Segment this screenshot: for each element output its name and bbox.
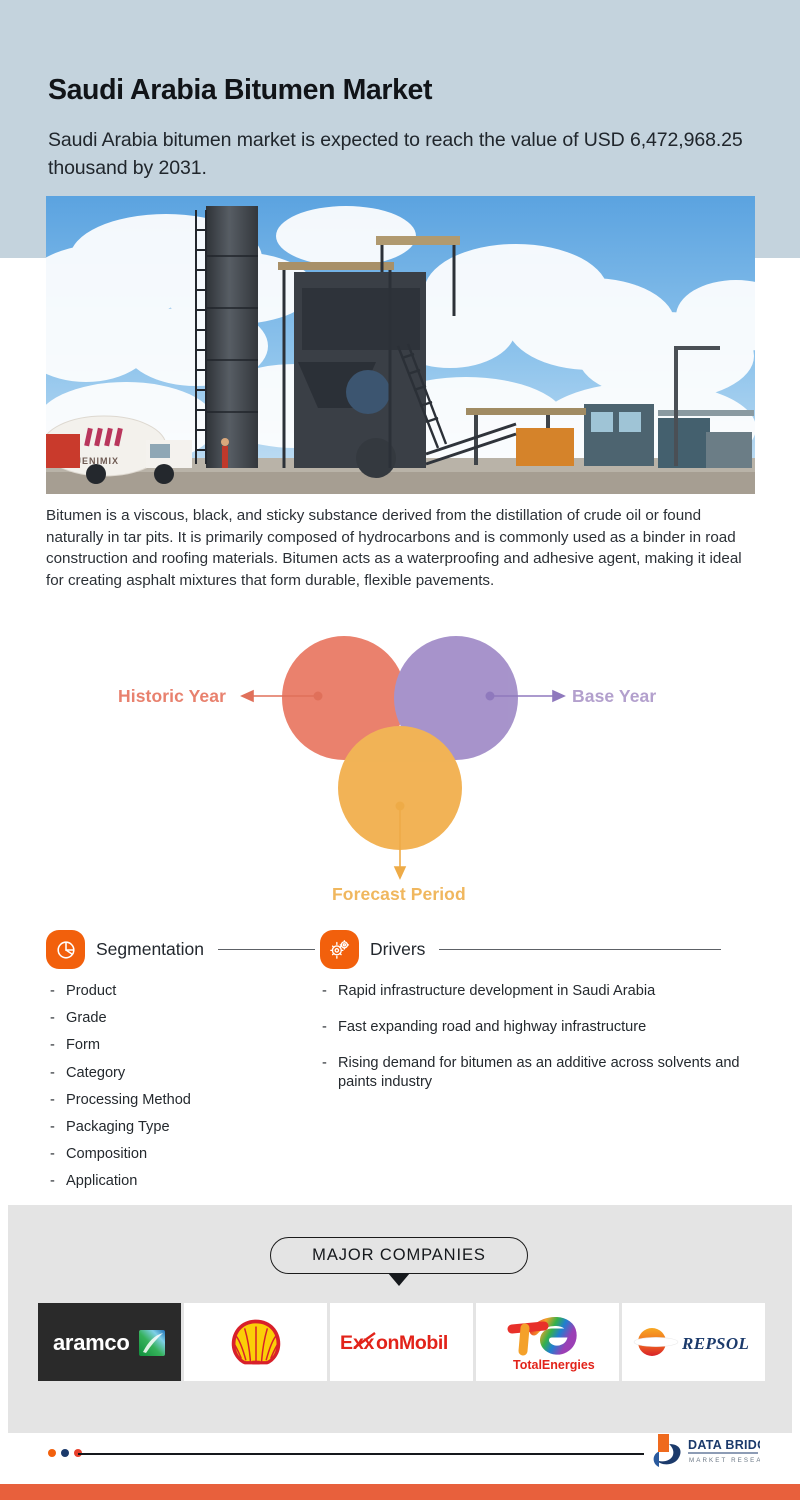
infographic-page: Saudi Arabia Bitumen Market Saudi Arabia… bbox=[0, 0, 800, 1500]
list-item: -Rapid infrastructure development in Sau… bbox=[322, 982, 752, 1001]
bullet-dash: - bbox=[322, 1054, 338, 1092]
footer-divider bbox=[78, 1453, 644, 1455]
logo-exxonmobil: E xx onMobil bbox=[330, 1303, 473, 1381]
major-companies-label: MAJOR COMPANIES bbox=[312, 1246, 486, 1265]
bullet-dash: - bbox=[50, 1172, 66, 1191]
company-logo-row: aramco bbox=[38, 1303, 765, 1381]
list-item: -Processing Method bbox=[50, 1091, 300, 1110]
logo-totalenergies: TotalEnergies bbox=[476, 1303, 619, 1381]
venn-label-base: Base Year bbox=[572, 686, 656, 707]
list-item: -Packaging Type bbox=[50, 1118, 300, 1137]
bullet-dash: - bbox=[50, 1118, 66, 1137]
logo-shell bbox=[184, 1303, 327, 1381]
bullet-dash: - bbox=[50, 1091, 66, 1110]
shell-logo-icon bbox=[228, 1314, 284, 1370]
bullet-dash: - bbox=[50, 1064, 66, 1083]
bullet-dash: - bbox=[322, 982, 338, 1001]
list-item: -Application bbox=[50, 1172, 300, 1191]
svg-text:REP: REP bbox=[681, 1334, 716, 1353]
segmentation-title: Segmentation bbox=[96, 939, 204, 960]
bullet-dash: - bbox=[50, 982, 66, 1001]
list-item: -Rising demand for bitumen as an additiv… bbox=[322, 1054, 752, 1092]
segmentation-item-label: Packaging Type bbox=[66, 1118, 170, 1137]
pill-pointer-icon bbox=[388, 1273, 410, 1286]
drivers-title: Drivers bbox=[370, 939, 425, 960]
gears-icon bbox=[320, 930, 359, 969]
list-item: -Product bbox=[50, 982, 300, 1001]
databridge-tagline: MARKET RESEARCH bbox=[689, 1457, 760, 1464]
svg-text:SOL: SOL bbox=[716, 1334, 749, 1353]
segmentation-item-label: Processing Method bbox=[66, 1091, 191, 1110]
bullet-dash: - bbox=[322, 1018, 338, 1037]
logo-repsol: REP SOL bbox=[622, 1303, 765, 1381]
drivers-header: Drivers bbox=[320, 930, 721, 969]
list-item: -Form bbox=[50, 1036, 300, 1055]
venn-svg bbox=[0, 618, 800, 918]
major-companies-heading: MAJOR COMPANIES bbox=[270, 1237, 528, 1274]
list-item: -Category bbox=[50, 1064, 300, 1083]
footer-dot-2 bbox=[61, 1449, 69, 1457]
segmentation-rule bbox=[218, 949, 315, 950]
drivers-list: -Rapid infrastructure development in Sau… bbox=[322, 982, 752, 1109]
bullet-dash: - bbox=[50, 1009, 66, 1028]
drivers-rule bbox=[439, 949, 721, 950]
list-item: -Fast expanding road and highway infrast… bbox=[322, 1018, 752, 1037]
page-subtitle: Saudi Arabia bitumen market is expected … bbox=[48, 126, 748, 182]
venn-diagram: 2022 2023 2024-2031 bbox=[0, 618, 800, 918]
databridge-logo: DATA BRIDGE MARKET RESEARCH bbox=[648, 1430, 760, 1476]
databridge-logo-icon: DATA BRIDGE MARKET RESEARCH bbox=[648, 1430, 760, 1476]
footer-dot-1 bbox=[48, 1449, 56, 1457]
segmentation-item-label: Composition bbox=[66, 1145, 147, 1164]
list-item: -Composition bbox=[50, 1145, 300, 1164]
drivers-item-label: Rapid infrastructure development in Saud… bbox=[338, 982, 655, 1001]
bullet-dash: - bbox=[50, 1145, 66, 1164]
drivers-item-label: Fast expanding road and highway infrastr… bbox=[338, 1018, 646, 1037]
footer-dots bbox=[48, 1449, 82, 1457]
pie-chart-icon bbox=[46, 930, 85, 969]
drivers-item-label: Rising demand for bitumen as an additive… bbox=[338, 1054, 752, 1092]
hero-photo: JENIMIX bbox=[46, 196, 755, 494]
bullet-dash: - bbox=[50, 1036, 66, 1055]
page-title: Saudi Arabia Bitumen Market bbox=[48, 74, 432, 107]
segmentation-item-label: Application bbox=[66, 1172, 137, 1191]
databridge-name: DATA BRIDGE bbox=[688, 1438, 760, 1452]
segmentation-item-label: Grade bbox=[66, 1009, 107, 1028]
svg-text:onMobil: onMobil bbox=[376, 1332, 448, 1354]
segmentation-item-label: Product bbox=[66, 982, 116, 1001]
venn-label-historic: Historic Year bbox=[118, 686, 226, 707]
bottom-accent-bar bbox=[0, 1484, 800, 1500]
aramco-logo-icon: aramco bbox=[47, 1322, 173, 1362]
venn-label-forecast: Forecast Period bbox=[332, 884, 466, 905]
list-item: -Grade bbox=[50, 1009, 300, 1028]
svg-text:E: E bbox=[340, 1332, 353, 1354]
exxonmobil-logo-icon: E xx onMobil bbox=[336, 1324, 468, 1360]
segmentation-item-label: Form bbox=[66, 1036, 100, 1055]
svg-text:aramco: aramco bbox=[53, 1330, 129, 1355]
description-text: Bitumen is a viscous, black, and sticky … bbox=[46, 505, 752, 591]
repsol-logo-icon: REP SOL bbox=[630, 1322, 758, 1362]
plant-photo-illustration: JENIMIX bbox=[46, 196, 755, 494]
segmentation-item-label: Category bbox=[66, 1064, 125, 1083]
segmentation-list: -Product -Grade -Form -Category -Process… bbox=[50, 982, 300, 1200]
segmentation-header: Segmentation bbox=[46, 930, 315, 969]
logo-aramco: aramco bbox=[38, 1303, 181, 1381]
totalenergies-logo-icon: TotalEnergies bbox=[496, 1309, 600, 1375]
svg-text:TotalEnergies: TotalEnergies bbox=[513, 1358, 595, 1372]
